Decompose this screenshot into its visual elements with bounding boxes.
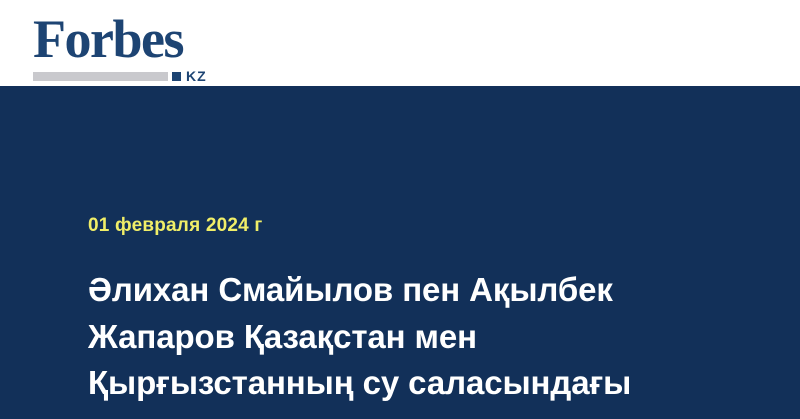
article-hero: 01 февраля 2024 г Әлихан Смайылов пен Ақ… [0,86,800,419]
logo-wordmark: Forbes [33,12,183,66]
article-title: Әлихан Смайылов пен Ақылбек Жапаров Қаза… [88,267,713,419]
article-date: 01 февраля 2024 г [88,215,263,237]
site-header: Forbes KZ [0,0,800,86]
logo-suffix-kz: KZ [186,69,207,83]
logo-rule-divider [33,72,168,81]
article-share-card: Forbes KZ 01 февраля 2024 г Әлихан Смайы… [0,0,800,419]
forbes-kz-logo[interactable]: Forbes KZ [33,12,233,74]
square-icon [172,72,181,81]
